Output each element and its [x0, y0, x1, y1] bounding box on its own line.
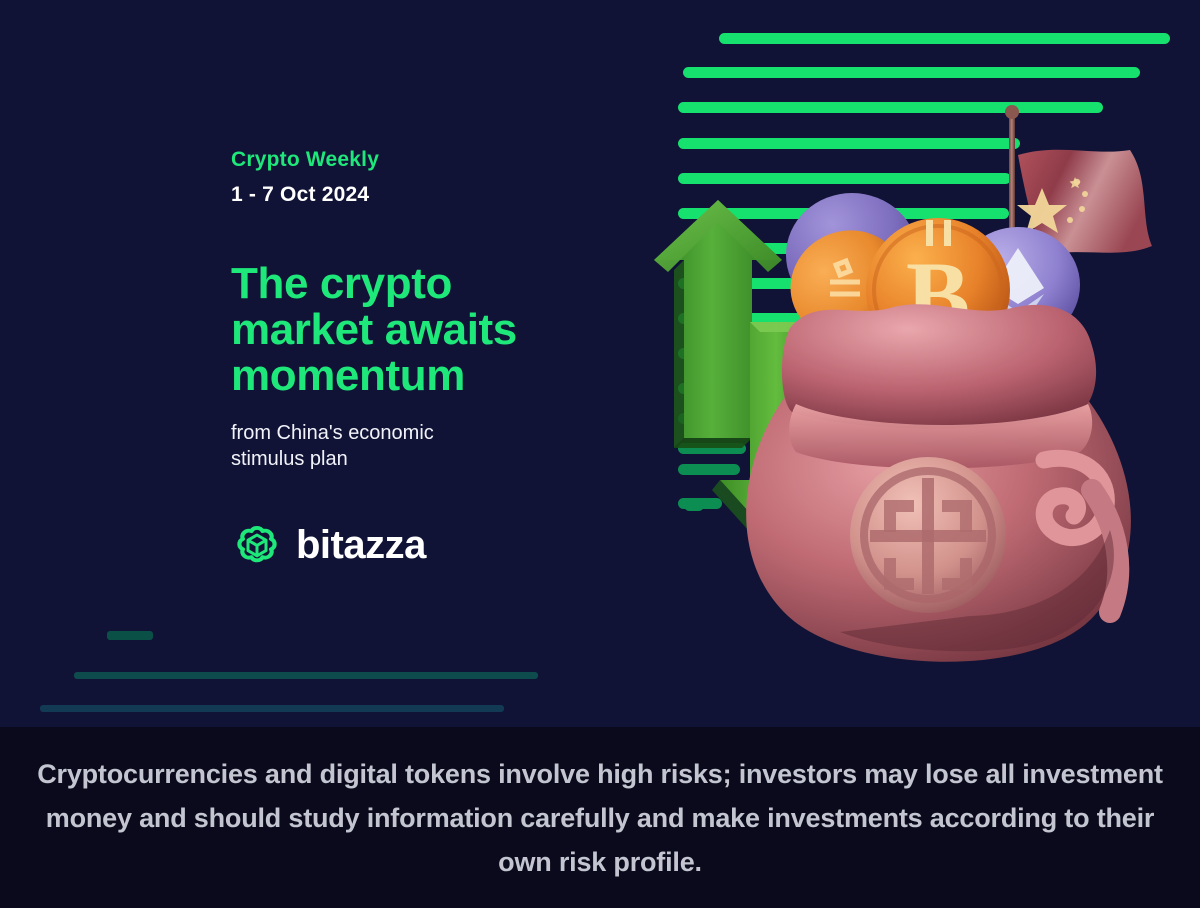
- bitazza-logo[interactable]: bitazza: [231, 519, 426, 571]
- subheadline-line-1: from China's economic: [231, 420, 561, 446]
- headline-line-1: The crypto: [231, 261, 611, 307]
- footer-bar: Cryptocurrencies and digital tokens invo…: [0, 727, 1200, 908]
- chart-bar: [719, 33, 1170, 44]
- chinese-fortune-emblem: [850, 457, 1006, 613]
- decorative-bar: [74, 672, 538, 679]
- subheadline-line-2: stimulus plan: [231, 446, 561, 472]
- date-range-label: 1 - 7 Oct 2024: [231, 183, 369, 207]
- headline-line-2: market awaits: [231, 307, 611, 353]
- decorative-bar: [107, 631, 153, 640]
- headline-line-3: momentum: [231, 353, 611, 399]
- crypto-moneybag-illustration: B: [640, 60, 1200, 680]
- bitazza-cube-flower-icon: [231, 519, 283, 571]
- headline: The crypto market awaits momentum: [231, 261, 611, 399]
- money-bag: [746, 304, 1131, 661]
- poster-root: B: [0, 0, 1200, 908]
- hero-panel: B: [0, 0, 1200, 727]
- decorative-bar: [40, 705, 504, 712]
- bitazza-wordmark: bitazza: [296, 525, 426, 565]
- kicker-label: Crypto Weekly: [231, 148, 379, 172]
- subheadline: from China's economic stimulus plan: [231, 420, 561, 472]
- risk-disclaimer-text: Cryptocurrencies and digital tokens invo…: [30, 752, 1170, 884]
